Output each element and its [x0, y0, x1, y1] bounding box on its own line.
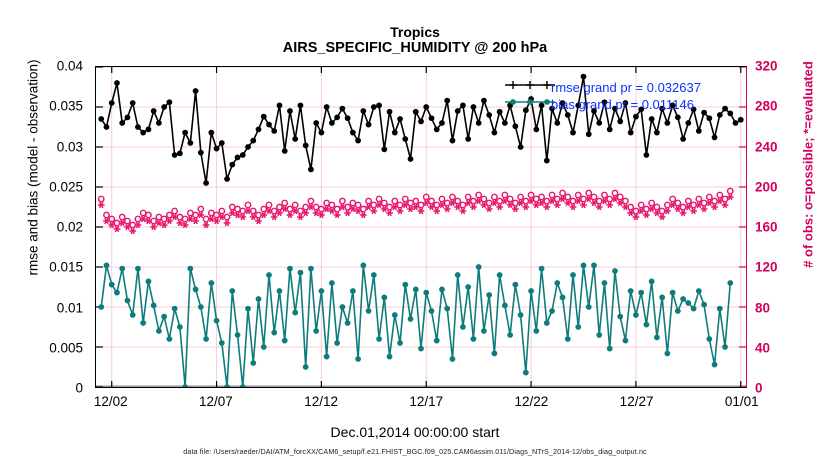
x-tick: 12/12	[304, 394, 338, 409]
y-tick-right: 40	[755, 340, 770, 355]
y-tick-left: 0.04	[57, 59, 89, 74]
y-tick-right: 200	[755, 179, 778, 194]
plot-area	[95, 66, 747, 388]
y-tick-right: 160	[755, 220, 778, 235]
y-tick-right: 120	[755, 260, 778, 275]
chart-title-main: Tropics	[0, 24, 830, 40]
y-tick-left: 0.025	[49, 179, 89, 194]
data-layer	[96, 67, 746, 387]
figure-canvas: Tropics AIRS_SPECIFIC_HUMIDITY @ 200 hPa…	[0, 0, 830, 470]
y-axis-right-ticks: 04080120160200240280320	[755, 66, 805, 388]
data-file-footer: data file: /Users/raeder/DAI/ATM_forcXX/…	[0, 447, 830, 456]
x-tick: 12/22	[515, 394, 549, 409]
y-tick-left: 0.035	[49, 99, 89, 114]
x-tick: 12/27	[620, 394, 654, 409]
y-tick-right: 280	[755, 99, 778, 114]
y-axis-left-label: rmse and bias (model - observation)	[26, 3, 41, 333]
legend-rmse-label: rmse grand pr = 0.032637	[551, 80, 701, 95]
x-tick: 12/02	[94, 394, 128, 409]
y-tick-left: 0.015	[49, 260, 89, 275]
chart-title-sub: AIRS_SPECIFIC_HUMIDITY @ 200 hPa	[0, 40, 830, 56]
y-tick-left: 0.02	[57, 220, 89, 235]
y-tick-right: 320	[755, 59, 778, 74]
legend-bias-label: bias grand pr = 0.011146	[551, 97, 694, 112]
y-axis-left-ticks: 00.0050.010.0150.020.0250.030.0350.04	[0, 66, 89, 388]
x-tick: 12/07	[199, 394, 233, 409]
y-tick-right: 80	[755, 300, 770, 315]
x-tick: 12/17	[409, 394, 443, 409]
y-tick-left: 0.005	[49, 340, 89, 355]
y-tick-left: 0.01	[57, 300, 89, 315]
y-tick-left: 0.03	[57, 139, 89, 154]
x-tick: 01/01	[725, 394, 759, 409]
x-axis-label: Dec.01,2014 00:00:00 start	[0, 424, 830, 440]
x-axis-ticks: 12/0212/0712/1212/1712/2212/2701/01	[0, 394, 830, 414]
y-tick-right: 240	[755, 139, 778, 154]
y-axis-right-label: # of obs: o=possible; *=evaluated	[801, 0, 816, 330]
